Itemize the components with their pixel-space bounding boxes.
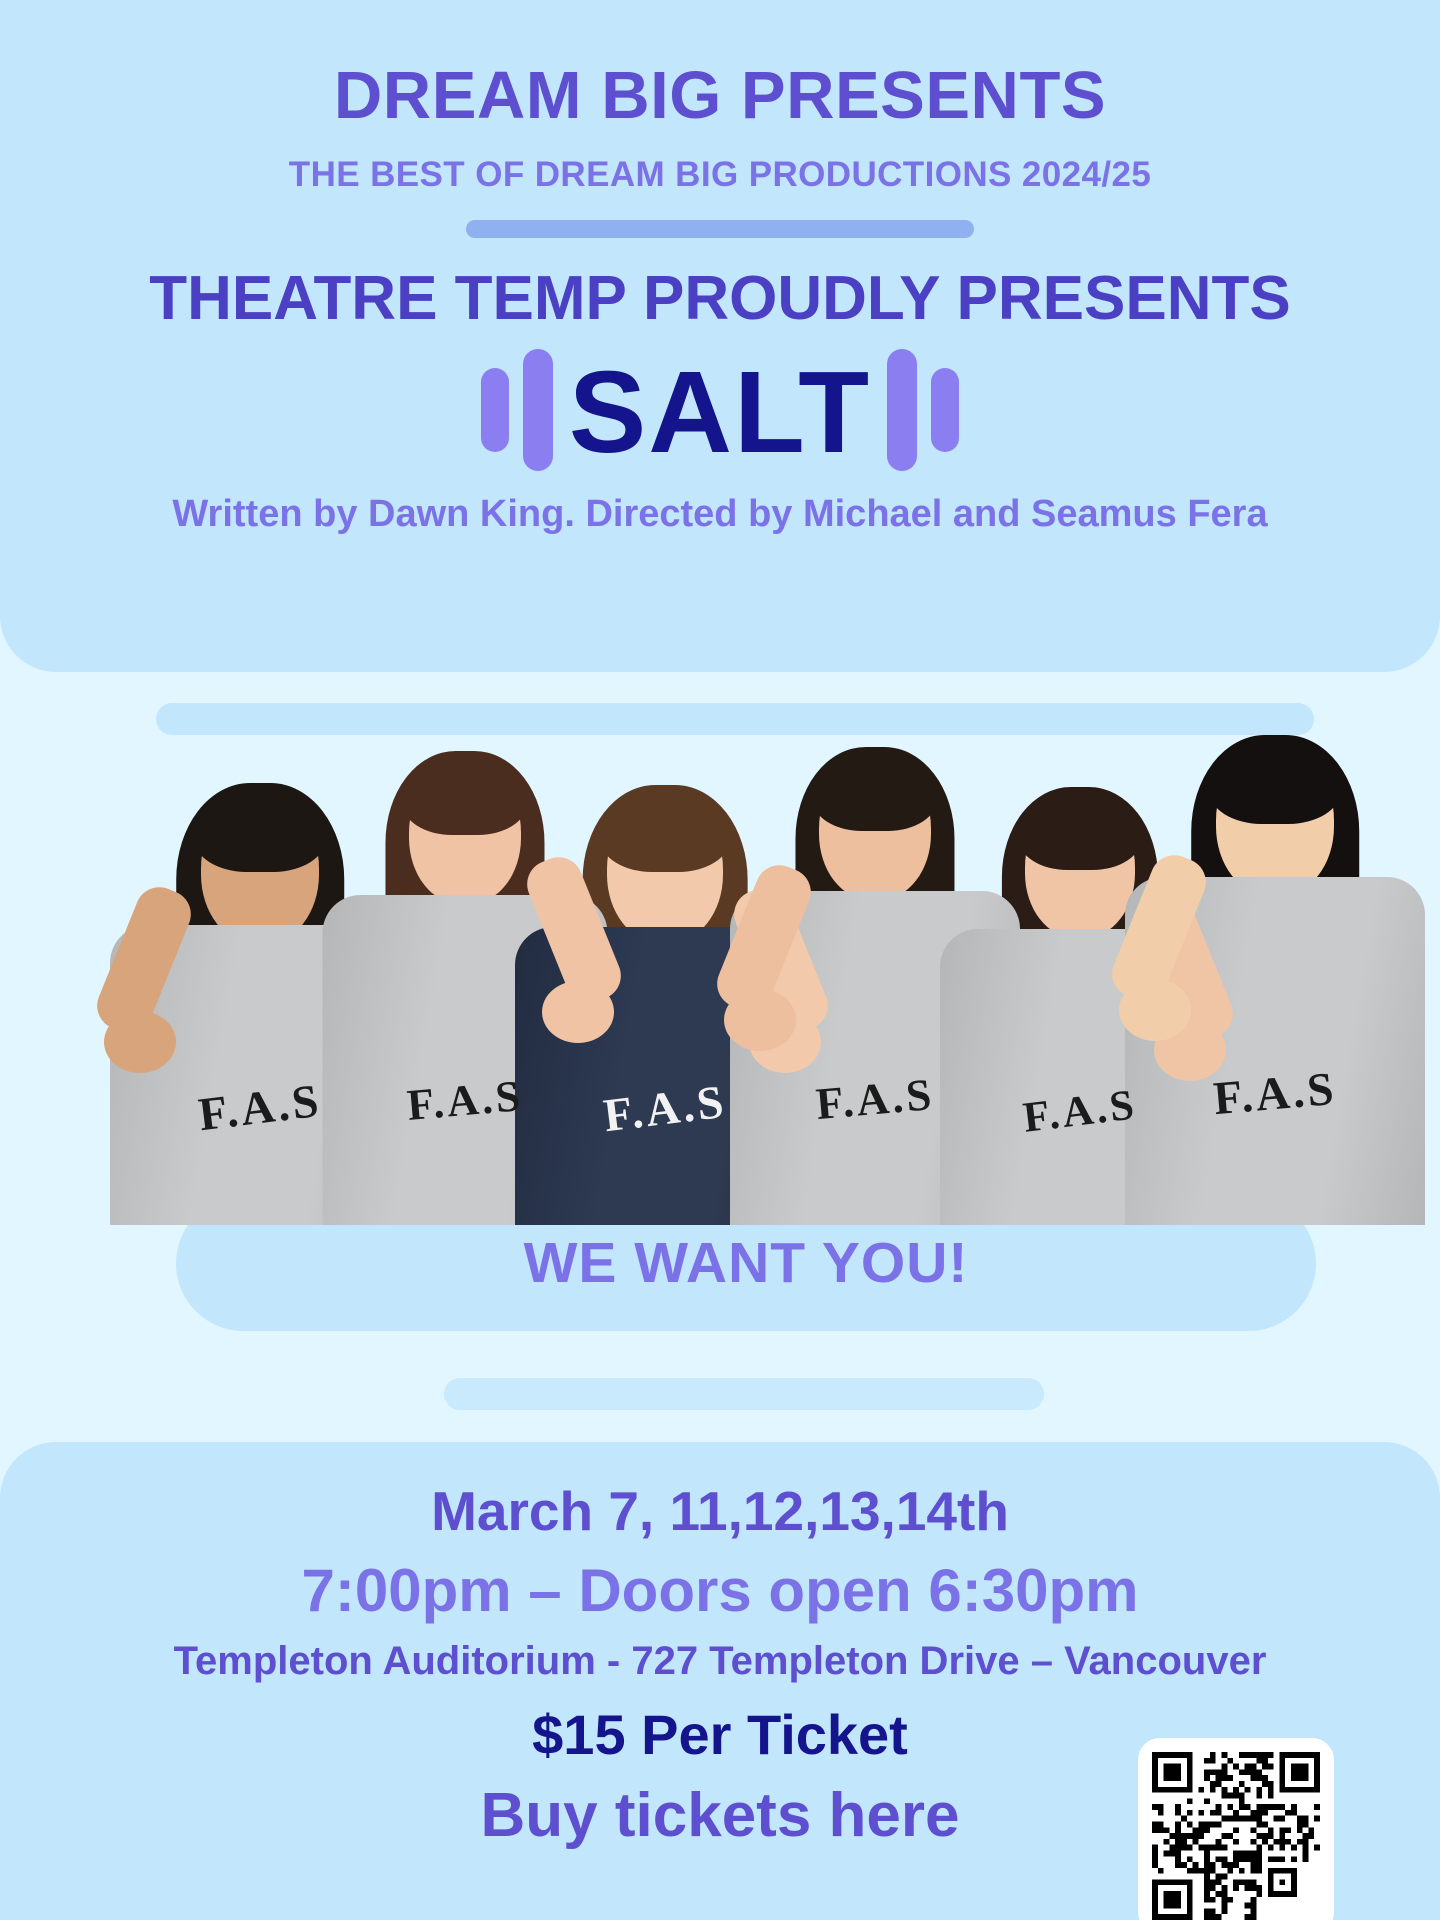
company-presents-line: THEATRE TEMP PROUDLY PRESENTS (149, 266, 1290, 331)
divider-pill-lower (444, 1378, 1044, 1410)
venue-address: Templeton Auditorium - 727 Templeton Dri… (0, 1641, 1440, 1681)
logo-bar-left-tall (523, 349, 553, 471)
poster-root: DREAM BIG PRESENTS THE BEST OF DREAM BIG… (0, 0, 1440, 1920)
pointing-hand (104, 1011, 176, 1073)
show-title-logo: SALT (481, 345, 959, 475)
cast-fringe (402, 755, 527, 835)
divider-pill-upper (156, 703, 1314, 735)
cast-photo: F.A.SF.A.SF.A.SF.A.SF.A.SF.A.S (120, 735, 1380, 1225)
shirt-logo-text: F.A.S (405, 1070, 525, 1131)
pointing-hand (542, 981, 614, 1043)
show-title-text: SALT (569, 354, 871, 470)
logo-bar-left-short (481, 368, 509, 452)
header-card: DREAM BIG PRESENTS THE BEST OF DREAM BIG… (0, 0, 1440, 672)
season-subtitle: THE BEST OF DREAM BIG PRODUCTIONS 2024/2… (289, 157, 1151, 192)
qr-code-card[interactable] (1138, 1738, 1334, 1920)
presenter-title: DREAM BIG PRESENTS (334, 62, 1106, 129)
pointing-hand (1119, 979, 1191, 1041)
cast-fringe (1209, 739, 1341, 824)
cast-fringe (600, 789, 730, 872)
header-divider-bar (466, 220, 974, 238)
cast-photo-container: F.A.SF.A.SF.A.SF.A.SF.A.SF.A.S (0, 735, 1440, 1225)
shirt-logo-text: F.A.S (814, 1068, 936, 1130)
cast-fringe (1018, 791, 1141, 870)
cast-fringe (194, 787, 326, 872)
pointing-hand (724, 989, 796, 1051)
call-to-action-text: WE WANT YOU! (524, 1235, 969, 1292)
shirt-logo-text: F.A.S (1211, 1062, 1338, 1127)
cast-fringe (812, 751, 937, 831)
qr-code-icon[interactable] (1152, 1752, 1320, 1920)
logo-bar-right-tall (887, 349, 917, 471)
performance-times: 7:00pm – Doors open 6:30pm (0, 1561, 1440, 1621)
logo-bar-right-short (931, 368, 959, 452)
writer-director-credits: Written by Dawn King. Directed by Michae… (172, 493, 1267, 536)
performance-dates: March 7, 11,12,13,14th (0, 1484, 1440, 1539)
